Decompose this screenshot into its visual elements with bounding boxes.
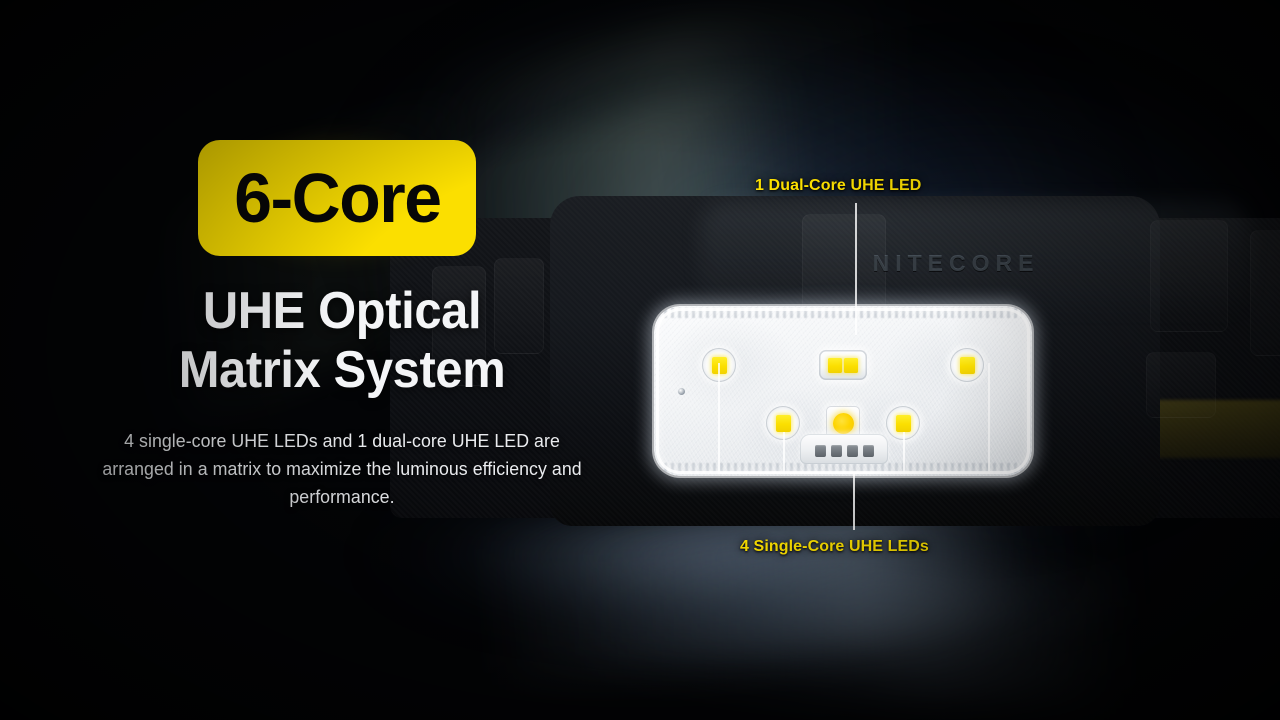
callout-label-dual-core: 1 Dual-Core UHE LED (755, 177, 921, 195)
led-die (960, 357, 975, 374)
led-die-b (844, 358, 858, 373)
led-die-a (828, 358, 842, 373)
led-single-core-top-right (950, 348, 984, 382)
housing-detail (1250, 230, 1280, 356)
led-die (776, 415, 791, 432)
badge-wrapper: 6-Core (198, 140, 476, 256)
headline-line-two: Matrix System (79, 341, 605, 400)
led-single-core-top-left (702, 348, 736, 382)
connector-pad (831, 445, 842, 457)
led-dual-core (819, 350, 867, 380)
page-title: UHE Optical Matrix System (79, 282, 605, 401)
led-die (896, 415, 911, 432)
led-die (712, 357, 727, 374)
housing-detail (1146, 352, 1216, 418)
promo-stage: NITECORE (0, 0, 1280, 720)
copy-block: 6-Core UHE Optical Matrix System 4 singl… (62, 140, 622, 511)
brand-wordmark: NITECORE (746, 250, 1166, 277)
badge-label: 6-Core (234, 163, 440, 233)
led-module (654, 306, 1032, 476)
core-count-badge: 6-Core (198, 140, 476, 256)
connector-pad (847, 445, 858, 457)
description-text: 4 single-core UHE LEDs and 1 dual-core U… (73, 427, 611, 511)
led-die (833, 413, 854, 434)
callout-label-single-core: 4 Single-Core UHE LEDs (740, 538, 929, 556)
connector-pad (815, 445, 826, 457)
connector-pad (863, 445, 874, 457)
module-connector (800, 434, 888, 464)
headline-line-one: UHE Optical (203, 282, 481, 340)
module-screw-icon (678, 388, 685, 395)
led-single-core-bottom-left (766, 406, 800, 440)
led-single-core-bottom-right (886, 406, 920, 440)
background-wisp-bottom-three (556, 539, 1184, 712)
